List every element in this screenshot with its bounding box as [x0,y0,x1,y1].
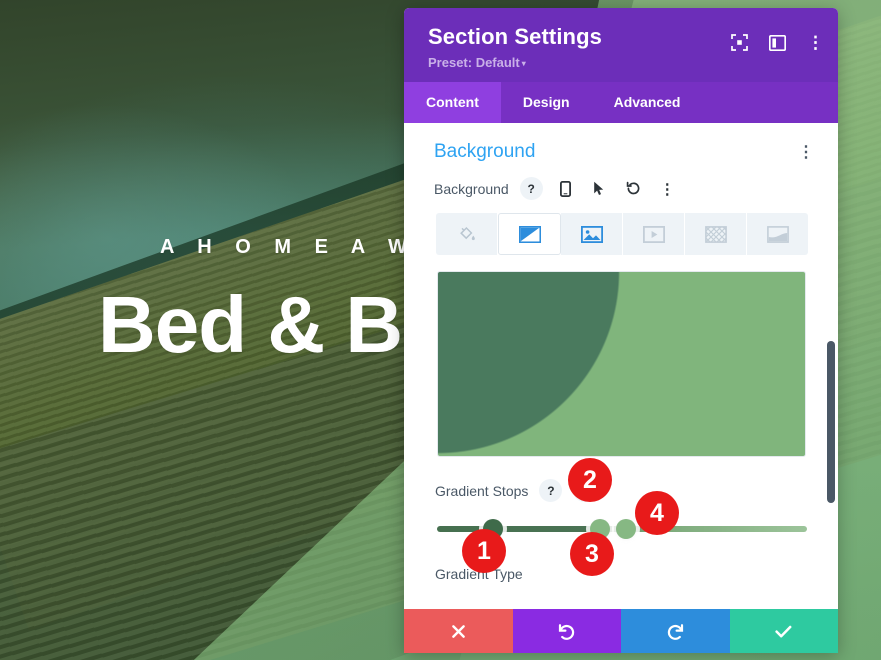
background-video-tab[interactable] [623,213,685,255]
gradient-stops-row: Gradient Stops ? [404,457,838,502]
panel-scrollbar[interactable] [827,341,835,503]
background-mask-tab[interactable] [747,213,808,255]
section-more-icon[interactable]: ⋮ [798,142,818,162]
gradient-preview [437,271,806,457]
callout-badge-3: 3 [570,532,614,576]
more-options-icon[interactable]: ⋮ [807,34,824,51]
tab-advanced[interactable]: Advanced [592,82,703,123]
chevron-down-icon: ▾ [522,59,526,68]
background-section-header: Background ⋮ [404,123,838,163]
tab-design[interactable]: Design [501,82,592,123]
preset-label: Preset: Default [428,55,520,70]
gradient-stop-3[interactable] [616,519,636,539]
gradient-stops-help-icon[interactable]: ? [539,479,562,502]
callout-badge-1: 1 [462,529,506,573]
background-color-tab[interactable] [436,213,498,255]
gradient-stops-label: Gradient Stops [435,483,528,499]
callout-badge-2: 2 [568,458,612,502]
preset-selector[interactable]: Preset: Default▾ [428,55,820,70]
background-more-icon[interactable]: ⋮ [656,177,679,200]
undo-button[interactable] [513,609,622,653]
save-button[interactable] [730,609,839,653]
modal-tabs: Content Design Advanced [404,82,838,123]
modal-action-bar [404,609,838,653]
background-type-tabs [436,213,808,255]
callout-badge-4: 4 [635,491,679,535]
redo-button[interactable] [621,609,730,653]
help-icon[interactable]: ? [520,177,543,200]
background-section-title[interactable]: Background [434,141,535,163]
hover-cursor-icon[interactable] [588,177,611,200]
modal-header: Section Settings Preset: Default▾ ⋮ [404,8,838,82]
panel-layout-icon[interactable] [769,35,786,51]
cancel-button[interactable] [404,609,513,653]
tab-content[interactable]: Content [404,82,501,123]
responsive-icon[interactable] [554,177,577,200]
background-image-tab[interactable] [561,213,623,255]
background-field-label: Background [434,181,509,197]
focus-icon[interactable] [731,34,748,51]
background-field-row: Background ? ⋮ [404,163,838,200]
reset-icon[interactable] [622,177,645,200]
background-pattern-tab[interactable] [685,213,747,255]
header-icon-group: ⋮ [731,34,824,51]
background-gradient-tab[interactable] [498,213,561,255]
